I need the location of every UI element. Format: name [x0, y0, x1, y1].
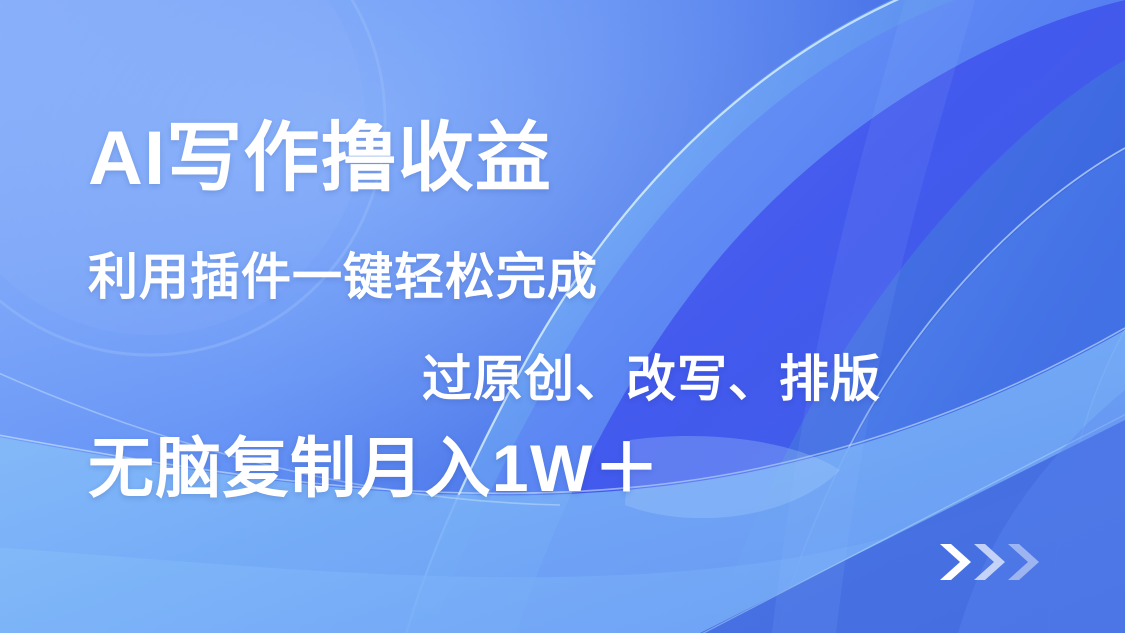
poster-subtitle-line-3: 无脑复制月入1W＋	[88, 434, 661, 503]
chevron-right-icon-2	[974, 544, 1005, 580]
chevron-right-icon-3	[1008, 544, 1039, 580]
poster-subtitle-line-1: 利用插件一键轻松完成	[88, 251, 598, 304]
chevron-arrows-icon	[938, 538, 1056, 586]
promo-poster: AI写作撸收益 利用插件一键轻松完成 过原创、改写、排版 无脑复制月入1W＋	[0, 0, 1125, 633]
poster-subtitle-line-2: 过原创、改写、排版	[422, 353, 881, 406]
poster-title: AI写作撸收益	[88, 120, 552, 198]
chevron-right-icon-1	[940, 544, 971, 580]
